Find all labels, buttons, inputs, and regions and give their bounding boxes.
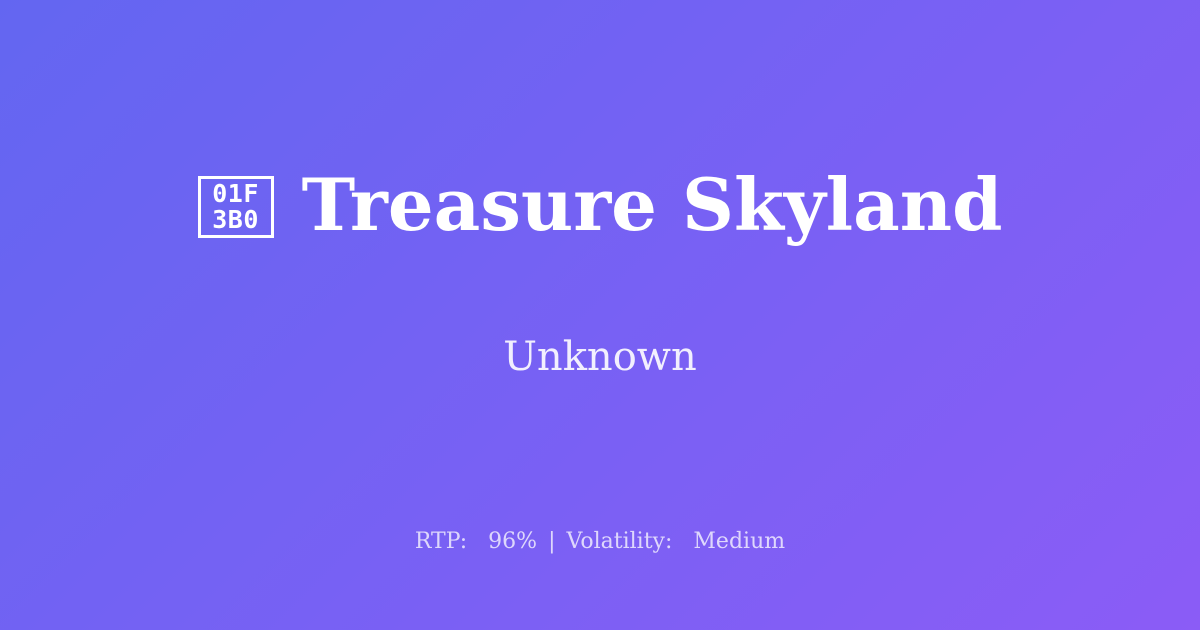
- tofu-codepoint-bottom: 3B0: [212, 207, 259, 233]
- slot-machine-icon: 01F 3B0: [198, 176, 274, 238]
- hero-block: 01F 3B0 Treasure Skyland Unknown: [0, 0, 1200, 500]
- meta-separator: |: [544, 529, 559, 554]
- game-meta-line: RTP: 96% | Volatility: Medium: [0, 528, 1200, 556]
- page-subtitle: Unknown: [503, 333, 697, 381]
- rtp-value: 96%: [488, 529, 537, 554]
- volatility-label: Volatility:: [567, 529, 673, 554]
- tofu-codepoint-top: 01F: [212, 181, 259, 207]
- page-title: Treasure Skyland: [302, 167, 1003, 243]
- og-card: 01F 3B0 Treasure Skyland Unknown RTP: 96…: [0, 0, 1200, 630]
- volatility-value: Medium: [693, 529, 785, 554]
- title-row: 01F 3B0 Treasure Skyland: [198, 119, 1003, 291]
- rtp-label: RTP:: [415, 529, 467, 554]
